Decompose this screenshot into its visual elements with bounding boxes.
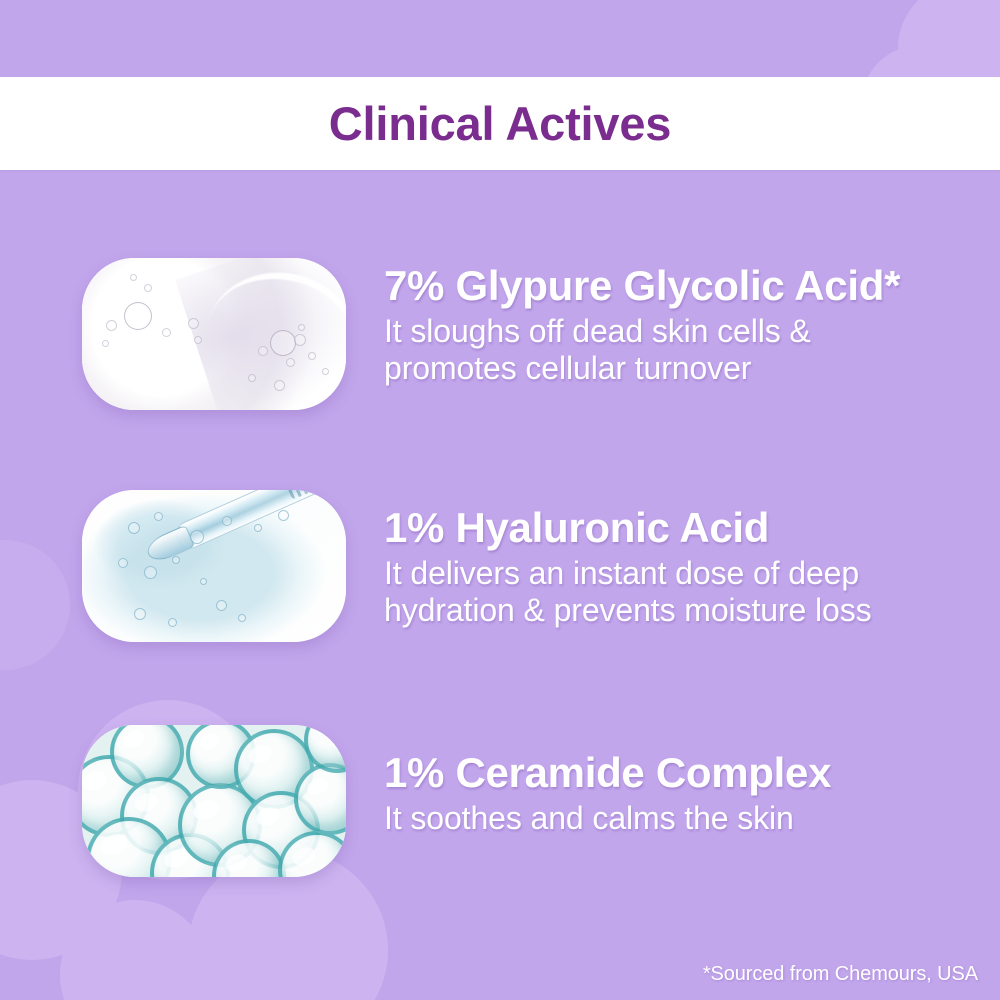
feature-title: 7% Glypure Glycolic Acid* [384,264,900,308]
feature-copy: 1% Ceramide Complex It soothes and calms… [384,725,831,837]
feature-title: 1% Hyaluronic Acid [384,506,872,550]
feature-description-line: It delivers an instant dose of deep [384,555,872,593]
feature-description-line: It sloughs off dead skin cells & [384,313,900,351]
feature-title: 1% Ceramide Complex [384,751,831,795]
feature-item-glycolic-acid: 7% Glypure Glycolic Acid* It sloughs off… [82,258,900,410]
feature-item-ceramide-complex: 1% Ceramide Complex It soothes and calms… [82,725,831,877]
feature-description: It soothes and calms the skin [384,800,831,838]
white-gel-swatch-image [82,258,346,410]
feature-list: 7% Glypure Glycolic Acid* It sloughs off… [0,0,1000,1000]
feature-description: It delivers an instant dose of deep hydr… [384,555,872,631]
dropper-in-gel-image [82,490,346,642]
feature-copy: 7% Glypure Glycolic Acid* It sloughs off… [384,258,900,388]
infographic-canvas: Clinical Actives [0,0,1000,1000]
teal-bubbles-image [82,725,346,877]
feature-copy: 1% Hyaluronic Acid It delivers an instan… [384,490,872,630]
feature-description-line: It soothes and calms the skin [384,800,831,838]
footnote-text: *Sourced from Chemours, USA [703,963,978,986]
feature-description-line: promotes cellular turnover [384,350,900,388]
feature-description: It sloughs off dead skin cells & promote… [384,313,900,389]
feature-description-line: hydration & prevents moisture loss [384,592,872,630]
feature-item-hyaluronic-acid: 1% Hyaluronic Acid It delivers an instan… [82,490,872,642]
